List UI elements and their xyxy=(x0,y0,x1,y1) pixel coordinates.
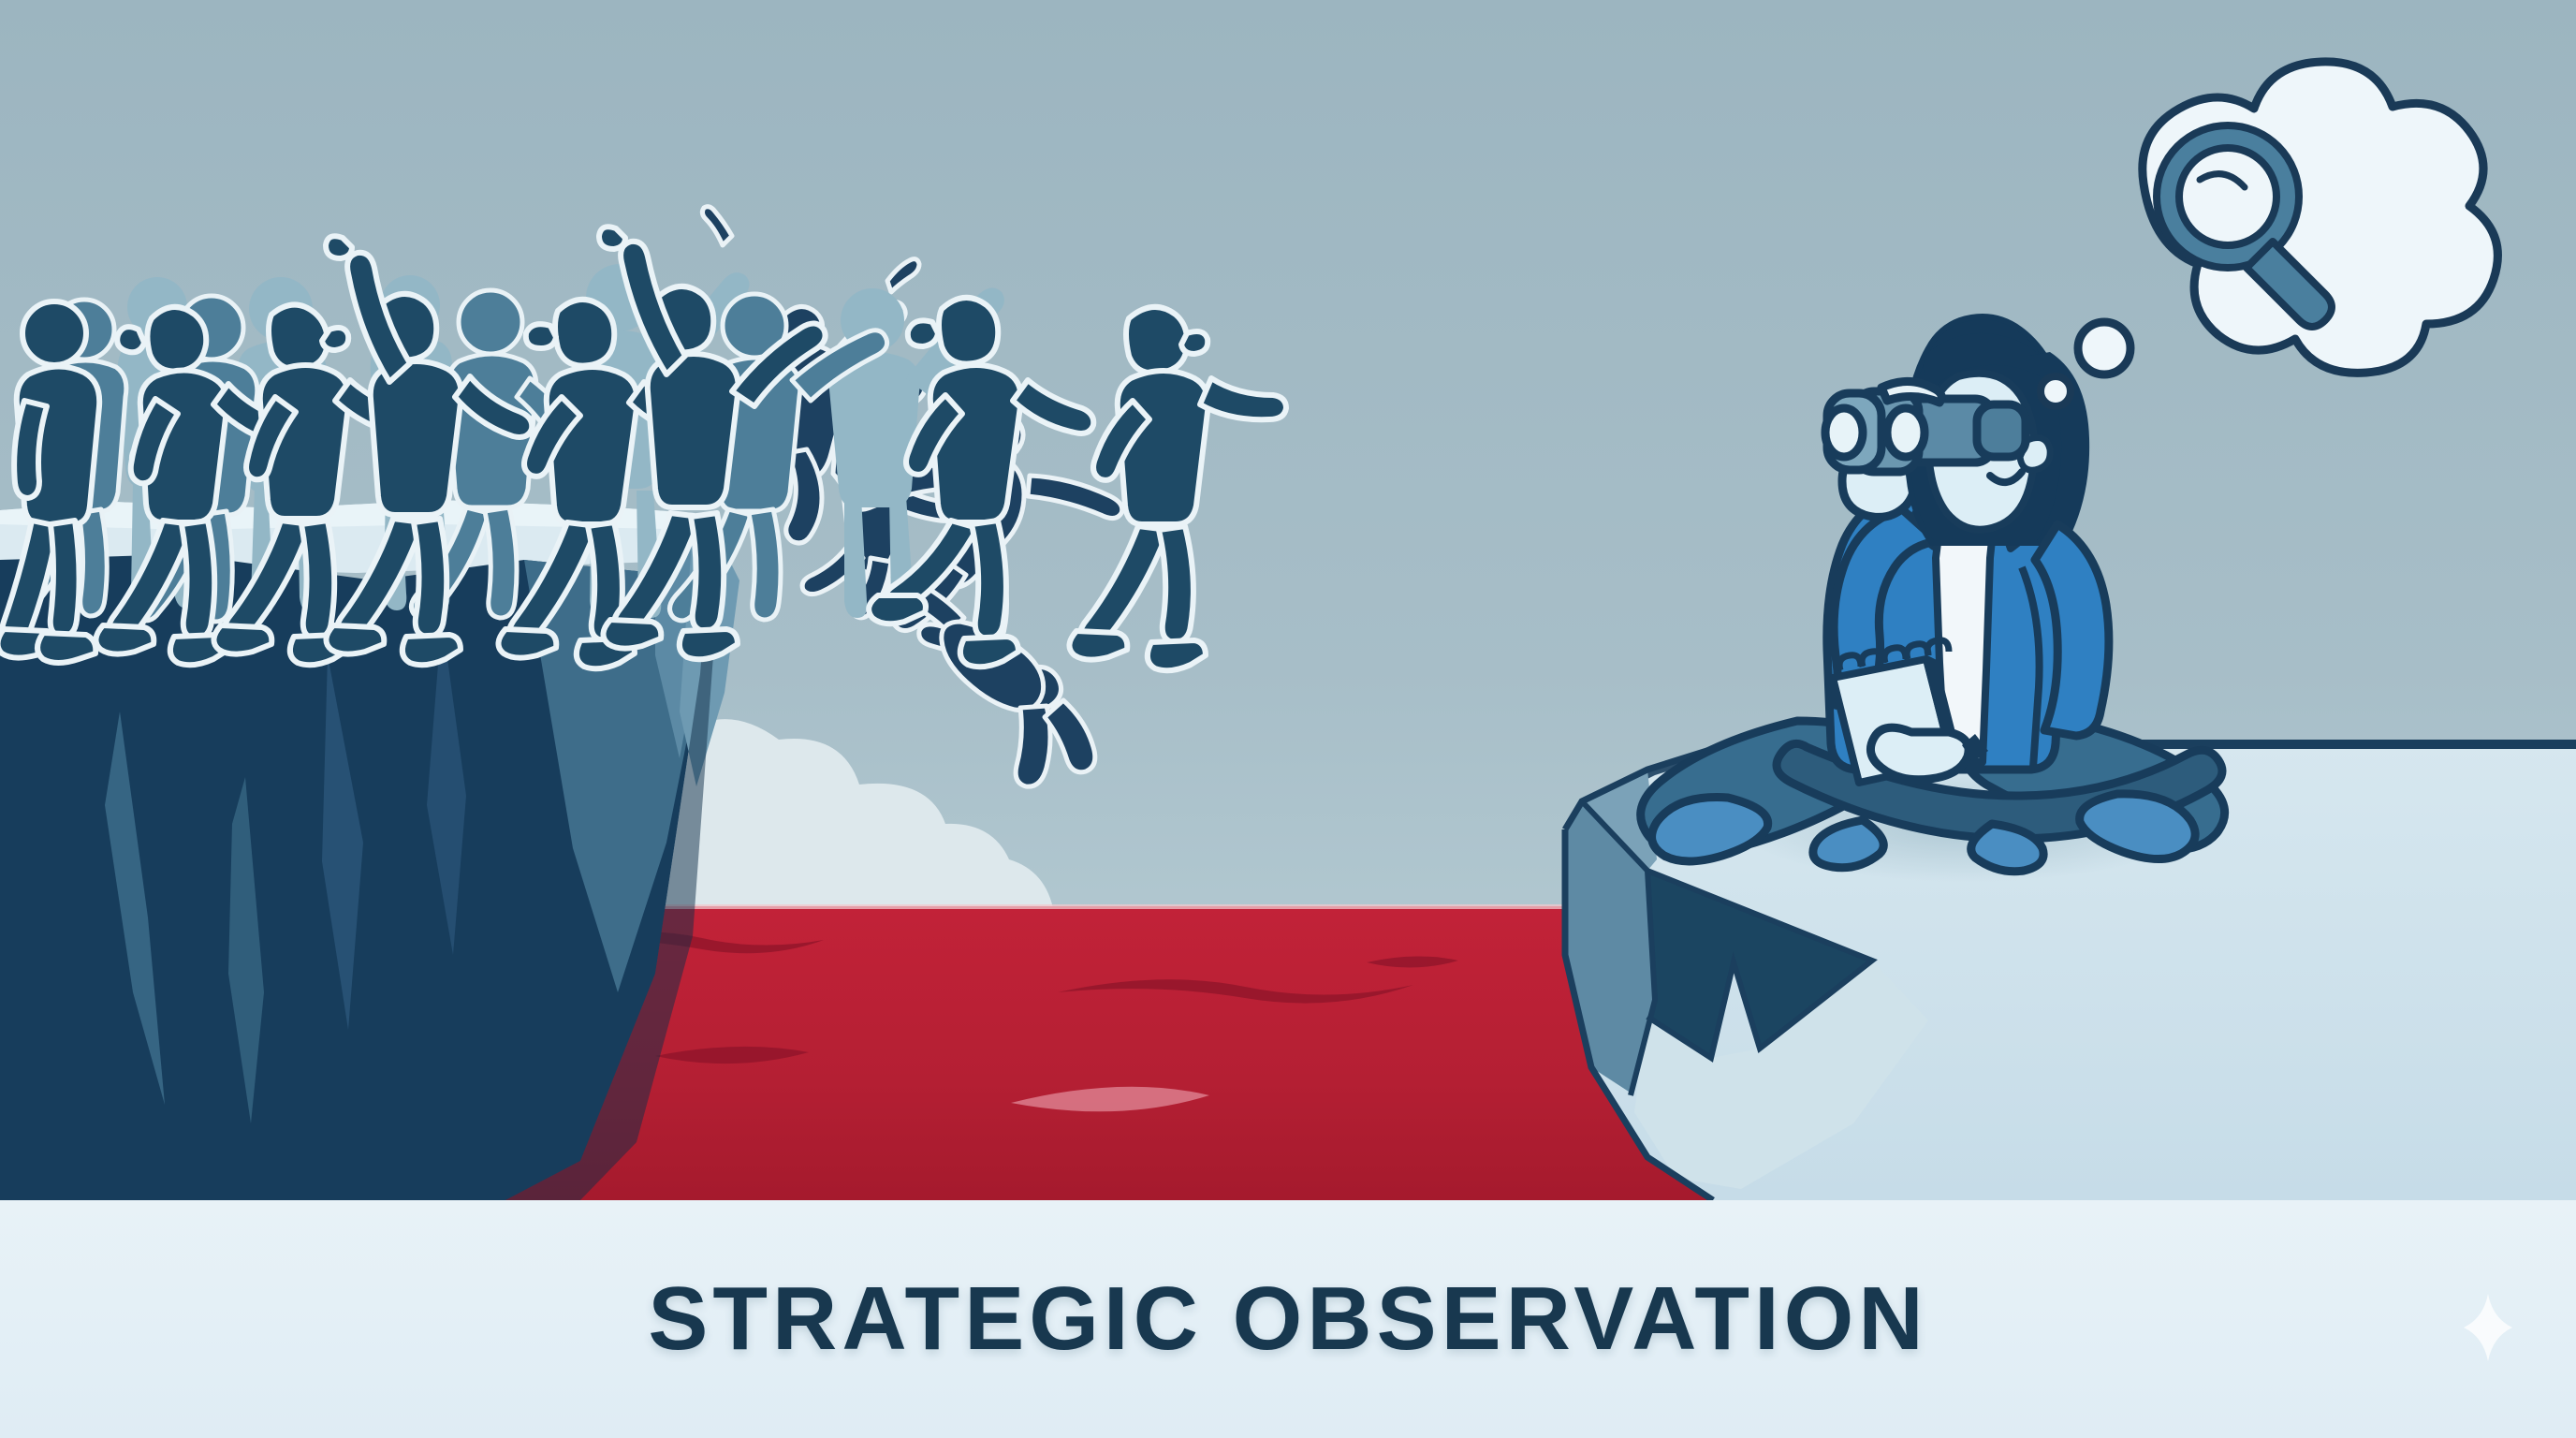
sparkle-icon xyxy=(2464,1294,2512,1361)
illustration-canvas: STRATEGIC OBSERVATION xyxy=(0,0,2576,1438)
thought-puff-small xyxy=(2041,376,2071,406)
page-title: STRATEGIC OBSERVATION xyxy=(0,1200,2576,1438)
thought-puff-large xyxy=(2078,322,2130,374)
